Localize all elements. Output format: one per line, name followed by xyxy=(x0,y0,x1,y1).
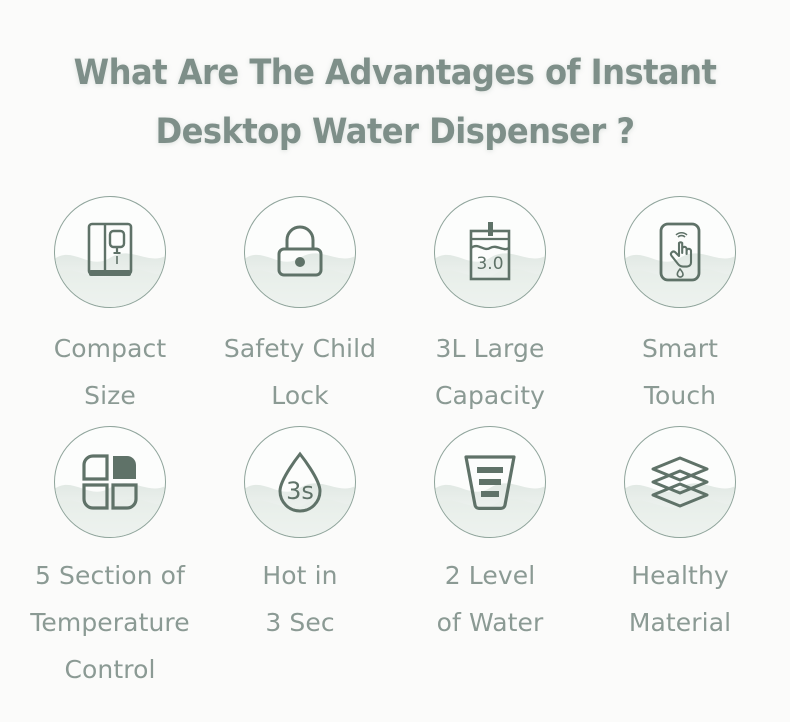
feature-item-temperature-control: 5 Section of Temperature Control xyxy=(15,426,205,693)
feature-item-safety-child-lock: Safety Child Lock xyxy=(205,196,395,419)
feature-caption: Compact Size xyxy=(17,325,203,419)
caption-line: Capacity xyxy=(397,372,583,419)
water-droplet-3s-icon: 3s xyxy=(272,451,328,513)
feature-caption: Safety Child Lock xyxy=(207,325,393,419)
water-tank-icon: 3.0 xyxy=(464,221,516,283)
caption-line: Compact xyxy=(17,325,203,372)
caption-line: 2 Level xyxy=(397,552,583,599)
caption-line: Smart xyxy=(587,325,773,372)
caption-line: Temperature xyxy=(17,599,203,646)
feature-icon-badge: 3.0 xyxy=(434,196,546,308)
feature-icon-badge: 3s xyxy=(244,426,356,538)
feature-item-healthy-material: Healthy Material xyxy=(585,426,775,693)
feature-caption: 5 Section of Temperature Control xyxy=(17,552,203,693)
caption-line: Size xyxy=(17,372,203,419)
caption-line: Healthy xyxy=(587,552,773,599)
infographic-page: What Are The Advantages of Instant Deskt… xyxy=(0,0,790,722)
page-title: What Are The Advantages of Instant Deskt… xyxy=(0,44,790,162)
water-dispenser-icon xyxy=(83,222,137,282)
caption-line: Safety Child xyxy=(207,325,393,372)
feature-caption: 3L Large Capacity xyxy=(397,325,583,419)
title-line-2: Desktop Water Dispenser ? xyxy=(32,103,759,162)
feature-icon-badge xyxy=(624,196,736,308)
touch-panel-icon xyxy=(654,221,706,283)
feature-item-large-capacity: 3.0 3L Large Capacity xyxy=(395,196,585,419)
feature-icon-badge xyxy=(54,426,166,538)
caption-line: Hot in xyxy=(207,552,393,599)
feature-item-compact-size: Compact Size xyxy=(15,196,205,419)
caption-line: 3 Sec xyxy=(207,599,393,646)
caption-line: 3L Large xyxy=(397,325,583,372)
tank-capacity-value: 3.0 xyxy=(476,254,503,274)
feature-icon-badge xyxy=(244,196,356,308)
caption-line: of Water xyxy=(397,599,583,646)
feature-icon-badge xyxy=(624,426,736,538)
caption-line: Lock xyxy=(207,372,393,419)
caption-line: Touch xyxy=(587,372,773,419)
title-line-1: What Are The Advantages of Instant xyxy=(32,44,759,103)
caption-line: Material xyxy=(587,599,773,646)
feature-icon-badge xyxy=(434,426,546,538)
feature-item-hot-in-3-sec: 3s Hot in 3 Sec xyxy=(205,426,395,693)
feature-grid-row-2: 5 Section of Temperature Control 3s xyxy=(0,426,790,693)
feature-caption: Healthy Material xyxy=(587,552,773,646)
cup-levels-icon xyxy=(461,453,519,511)
droplet-time-value: 3s xyxy=(286,477,314,505)
feature-icon-badge xyxy=(54,196,166,308)
feature-grid-row-1: Compact Size Safety Chi xyxy=(0,196,790,419)
feature-caption: 2 Level of Water xyxy=(397,552,583,646)
feature-caption: Smart Touch xyxy=(587,325,773,419)
stacked-layers-icon xyxy=(649,455,711,509)
feature-item-two-level-water: 2 Level of Water xyxy=(395,426,585,693)
padlock-icon xyxy=(272,222,328,282)
feature-caption: Hot in 3 Sec xyxy=(207,552,393,646)
caption-line: Control xyxy=(17,646,203,693)
feature-item-smart-touch: Smart Touch xyxy=(585,196,775,419)
caption-line: 5 Section of xyxy=(17,552,203,599)
grid-squares-icon xyxy=(81,453,139,511)
